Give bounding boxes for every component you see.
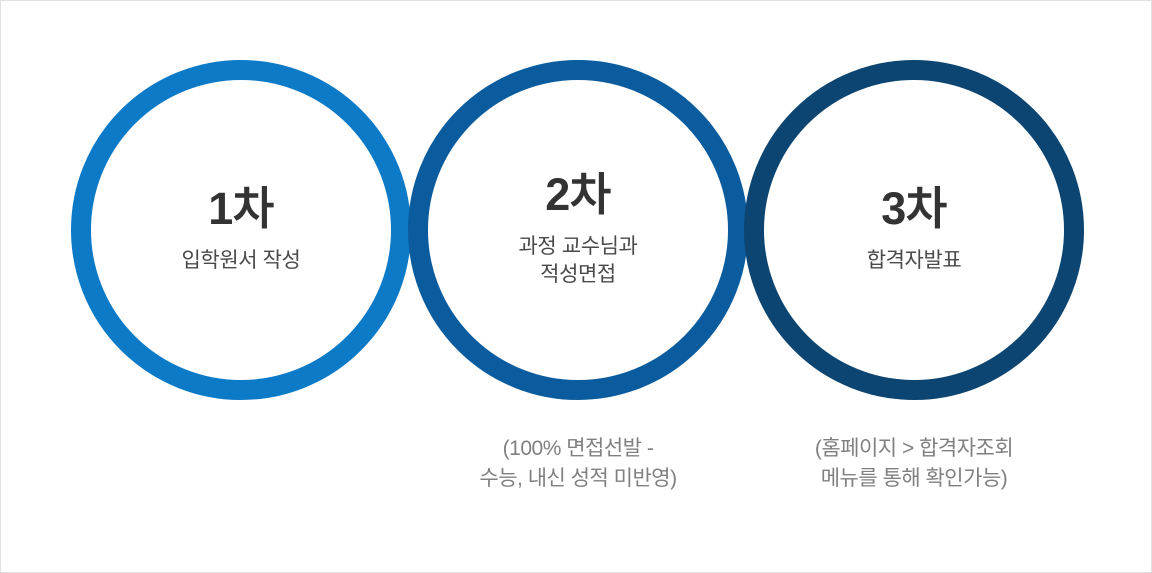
step-2-content: 2차 과정 교수님과 적성면접 — [408, 60, 748, 400]
step-1-content: 1차 입학원서 작성 — [71, 60, 411, 400]
step-2-title: 2차 — [545, 172, 610, 217]
step-3-caption: (홈페이지 > 합격자조회 메뉴를 통해 확인가능) — [744, 434, 1084, 495]
process-step-2: 2차 과정 교수님과 적성면접 — [408, 60, 748, 400]
step-3-subtitle: 합격자발표 — [867, 247, 962, 275]
infographic-canvas: 1차 입학원서 작성 2차 과정 교수님과 적성면접 3차 합격자발표 (100… — [0, 0, 1152, 573]
step-3-title: 3차 — [881, 186, 946, 231]
process-step-1: 1차 입학원서 작성 — [71, 60, 411, 400]
step-2-caption: (100% 면접선발 - 수능, 내신 성적 미반영) — [408, 434, 748, 495]
step-1-title: 1차 — [208, 186, 273, 231]
process-steps-diagram: 1차 입학원서 작성 2차 과정 교수님과 적성면접 3차 합격자발표 (100… — [1, 1, 1151, 572]
step-3-content: 3차 합격자발표 — [744, 60, 1084, 400]
process-step-3: 3차 합격자발표 — [744, 60, 1084, 400]
step-2-subtitle: 과정 교수님과 적성면접 — [519, 233, 638, 288]
step-1-subtitle: 입학원서 작성 — [182, 247, 301, 275]
